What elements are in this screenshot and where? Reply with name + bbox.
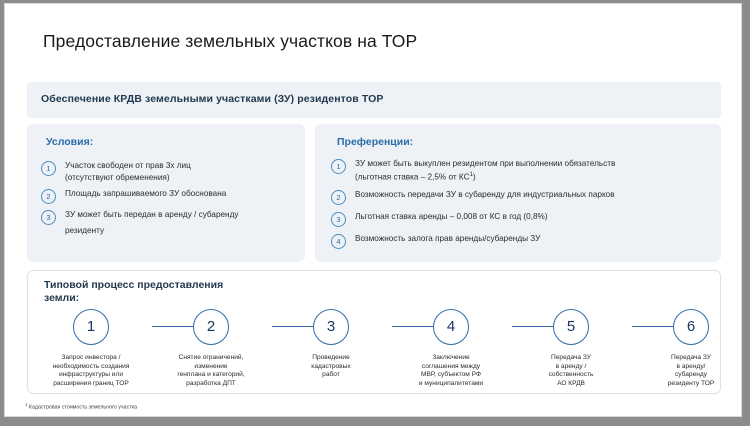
item-line-2: резиденту	[65, 225, 238, 237]
item-line-2: (льготная ставка – 2,5% от КС1)	[355, 170, 615, 183]
process-panel: Типовой процесс предоставления земли: 1 …	[27, 270, 721, 394]
item-number-badge: 1	[41, 161, 56, 176]
list-item: 1 Участок свободен от прав 3х лиц (отсут…	[41, 160, 297, 183]
item-text: Льготная ставка аренды – 0,008 от КС в г…	[355, 211, 548, 223]
item-text: ЗУ может быть выкуплен резидентом при вы…	[355, 158, 615, 183]
item-line-2-tail: )	[473, 172, 476, 181]
item-line-2: (отсутствуют обременения)	[65, 172, 191, 184]
footnote: 1 Кадастровая стоимость земельного участ…	[25, 402, 137, 411]
step-label: Заключение соглашения между МВР, субъект…	[394, 354, 508, 388]
preferences-list: 1 ЗУ может быть выкуплен резидентом при …	[331, 158, 713, 255]
step-label-line: изменение	[154, 363, 268, 372]
process-heading: Типовой процесс предоставления земли:	[44, 279, 304, 305]
step-label: Запрос инвестора / необходимость создани…	[34, 354, 148, 388]
step-label-line: Снятие ограничений,	[154, 354, 268, 363]
step-label: Передача ЗУ в аренду / собственность АО …	[514, 354, 628, 388]
process-step-5: 5 Передача ЗУ в аренду / собственность А…	[514, 309, 628, 388]
item-number-badge: 1	[331, 159, 346, 174]
item-number-badge: 2	[331, 190, 346, 205]
conditions-heading: Условия:	[46, 136, 93, 148]
process-steps: 1 Запрос инвестора / необходимость созда…	[34, 309, 716, 389]
step-label-line: МВР, субъектом РФ	[394, 371, 508, 380]
item-line-1: Участок свободен от прав 3х лиц	[65, 161, 191, 170]
item-text: Площадь запрашиваемого ЗУ обоснована	[65, 188, 226, 200]
item-line-2-text: (льготная ставка – 2,5% от КС	[355, 172, 469, 181]
item-text: Возможность залога прав аренды/субаренды…	[355, 233, 540, 245]
step-label-line: инфраструктуры или	[34, 371, 148, 380]
preferences-heading: Преференции:	[337, 136, 413, 148]
step-label: Передача ЗУ в аренду/ субаренду резидент…	[634, 354, 748, 388]
step-label-line: работ	[274, 371, 388, 380]
step-label-line: и муниципалитетами	[394, 380, 508, 389]
step-circle: 2	[193, 309, 229, 345]
item-text: ЗУ может быть передан в аренду / субарен…	[65, 209, 238, 236]
step-label-line: собственность	[514, 371, 628, 380]
footnote-marker: 1	[25, 402, 27, 407]
list-item: 2 Площадь запрашиваемого ЗУ обоснована	[41, 188, 297, 204]
step-circle: 3	[313, 309, 349, 345]
step-circle: 1	[73, 309, 109, 345]
step-label: Снятие ограничений, изменение генплана и…	[154, 354, 268, 388]
step-label-line: АО КРДВ	[514, 380, 628, 389]
step-label-line: субаренду	[634, 371, 748, 380]
step-label-line: соглашения между	[394, 363, 508, 372]
step-label-line: Заключение	[394, 354, 508, 363]
item-line-1: Возможность залога прав аренды/субаренды…	[355, 234, 540, 243]
item-line-1: ЗУ может быть выкуплен резидентом при вы…	[355, 159, 615, 168]
item-line-1: ЗУ может быть передан в аренду / субарен…	[65, 210, 238, 219]
step-label-line: Проведение	[274, 354, 388, 363]
step-circle: 4	[433, 309, 469, 345]
step-label-line: в аренду /	[514, 363, 628, 372]
list-item: 1 ЗУ может быть выкуплен резидентом при …	[331, 158, 713, 183]
item-text: Возможность передачи ЗУ в субаренду для …	[355, 189, 615, 201]
list-item: 3 Льготная ставка аренды – 0,008 от КС в…	[331, 211, 713, 227]
list-item: 3 ЗУ может быть передан в аренду / субар…	[41, 209, 297, 236]
item-line-1: Площадь запрашиваемого ЗУ обоснована	[65, 189, 226, 198]
item-number-badge: 3	[331, 212, 346, 227]
list-item: 4 Возможность залога прав аренды/субарен…	[331, 233, 713, 249]
process-step-2: 2 Снятие ограничений, изменение генплана…	[154, 309, 268, 388]
step-label-line: в аренду/	[634, 363, 748, 372]
step-label-line: расширения границ ТОР	[34, 380, 148, 389]
page-title: Предоставление земельных участков на ТОР	[43, 31, 417, 52]
step-label-line: Запрос инвестора /	[34, 354, 148, 363]
header-band-label: Обеспечение КРДВ земельными участками (З…	[41, 93, 384, 105]
conditions-list: 1 Участок свободен от прав 3х лиц (отсут…	[41, 160, 297, 241]
step-circle: 5	[553, 309, 589, 345]
step-label-line: разработка ДПТ	[154, 380, 268, 389]
process-step-3: 3 Проведение кадастровых работ	[274, 309, 388, 380]
slide-canvas: Предоставление земельных участков на ТОР…	[4, 3, 742, 417]
preferences-panel: Преференции: 1 ЗУ может быть выкуплен ре…	[315, 124, 721, 262]
conditions-panel: Условия: 1 Участок свободен от прав 3х л…	[27, 124, 305, 262]
process-heading-line-1: Типовой процесс предоставления	[44, 279, 223, 291]
step-label-line: резиденту ТОР	[634, 380, 748, 389]
header-band: Обеспечение КРДВ земельными участками (З…	[27, 82, 721, 118]
step-label-line: необходимость создания	[34, 363, 148, 372]
item-number-badge: 3	[41, 210, 56, 225]
item-line-1: Льготная ставка аренды – 0,008 от КС в г…	[355, 212, 548, 221]
list-item: 2 Возможность передачи ЗУ в субаренду дл…	[331, 189, 713, 205]
step-label-line: кадастровых	[274, 363, 388, 372]
footnote-text: Кадастровая стоимость земельного участка	[29, 405, 137, 411]
step-label-line: Передача ЗУ	[634, 354, 748, 363]
step-label-line: генплана и категорий,	[154, 371, 268, 380]
process-step-4: 4 Заключение соглашения между МВР, субъе…	[394, 309, 508, 388]
step-circle: 6	[673, 309, 709, 345]
item-number-badge: 4	[331, 234, 346, 249]
process-step-1: 1 Запрос инвестора / необходимость созда…	[34, 309, 148, 388]
step-label: Проведение кадастровых работ	[274, 354, 388, 380]
process-heading-line-2: земли:	[44, 292, 304, 305]
item-line-1: Возможность передачи ЗУ в субаренду для …	[355, 190, 615, 199]
item-text: Участок свободен от прав 3х лиц (отсутст…	[65, 160, 191, 183]
item-number-badge: 2	[41, 189, 56, 204]
process-step-6: 6 Передача ЗУ в аренду/ субаренду резиде…	[634, 309, 748, 388]
step-label-line: Передача ЗУ	[514, 354, 628, 363]
